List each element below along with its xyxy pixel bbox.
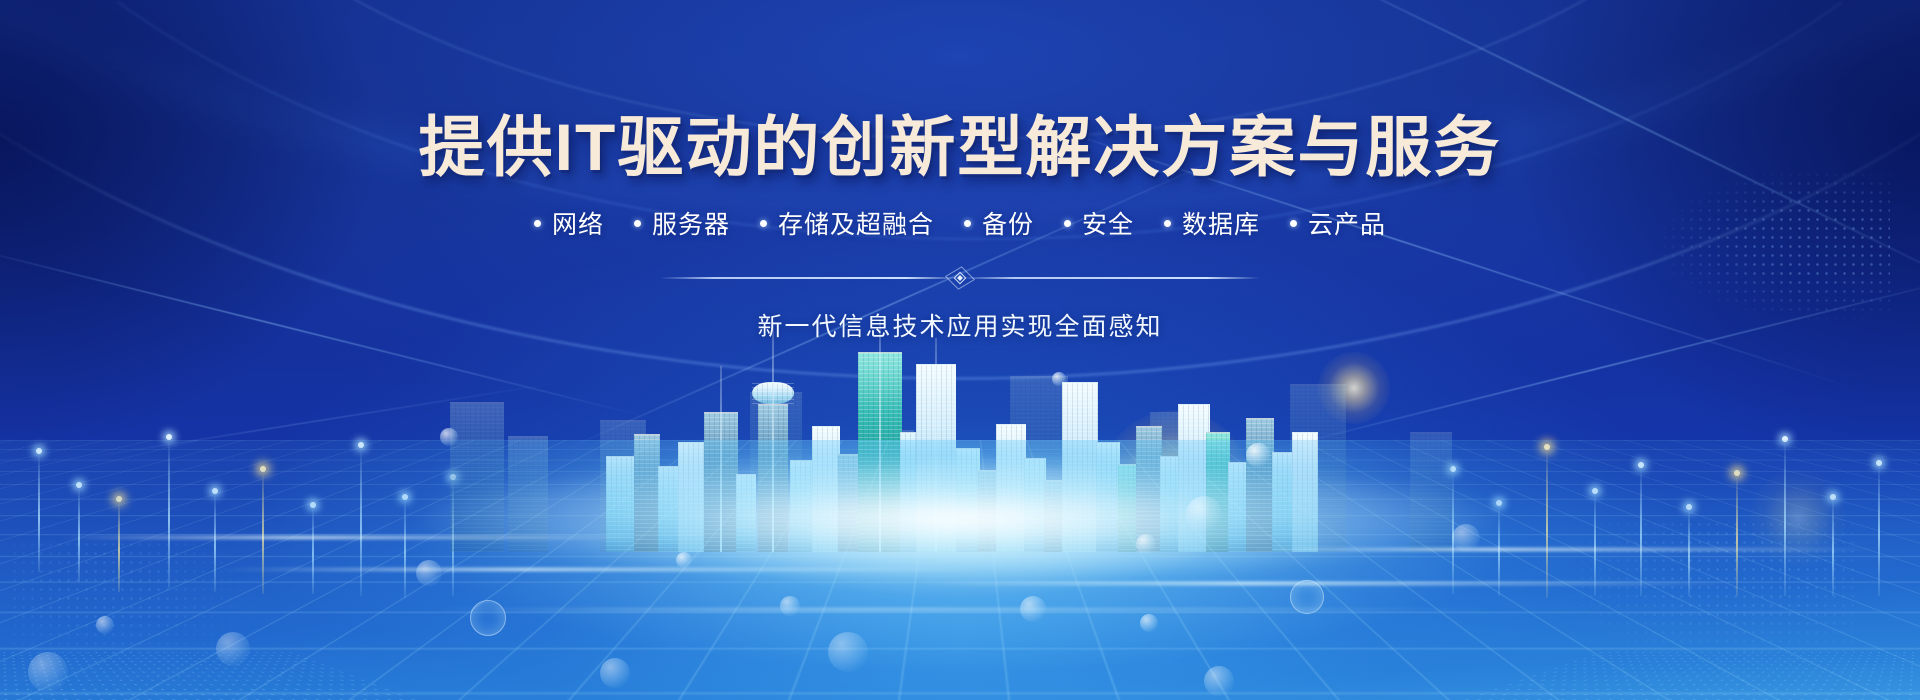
bullet-dot-icon xyxy=(1290,220,1297,227)
bullet-dot-icon xyxy=(964,220,971,227)
banner-content: 提供IT驱动的创新型解决方案与服务 网络 服务器 存储及超融合 备份 安全 xyxy=(0,0,1920,343)
diamond-ornament-icon xyxy=(943,267,977,289)
service-label: 备份 xyxy=(982,205,1034,241)
bullet-dot-icon xyxy=(1064,220,1071,227)
bullet-dot-icon xyxy=(534,220,541,227)
list-item[interactable]: 网络 xyxy=(534,205,604,241)
ground-light-plane xyxy=(0,440,1920,700)
service-label: 服务器 xyxy=(652,205,730,241)
divider-line-left xyxy=(660,277,960,279)
tagline: 新一代信息技术应用实现全面感知 xyxy=(0,307,1920,343)
service-label: 数据库 xyxy=(1182,205,1260,241)
service-label: 网络 xyxy=(552,205,604,241)
divider-line-right xyxy=(960,277,1260,279)
list-item[interactable]: 服务器 xyxy=(634,205,730,241)
hero-banner: 提供IT驱动的创新型解决方案与服务 网络 服务器 存储及超融合 备份 安全 xyxy=(0,0,1920,700)
page-title: 提供IT驱动的创新型解决方案与服务 xyxy=(0,0,1920,183)
list-item[interactable]: 备份 xyxy=(964,205,1034,241)
ground-haze xyxy=(0,458,1920,578)
bullet-dot-icon xyxy=(1164,220,1171,227)
divider xyxy=(660,267,1260,289)
list-item[interactable]: 存储及超融合 xyxy=(760,205,934,241)
service-label: 云产品 xyxy=(1308,205,1386,241)
bullet-dot-icon xyxy=(634,220,641,227)
list-item[interactable]: 数据库 xyxy=(1164,205,1260,241)
service-label: 存储及超融合 xyxy=(778,205,934,241)
list-item[interactable]: 云产品 xyxy=(1290,205,1386,241)
service-list: 网络 服务器 存储及超融合 备份 安全 数据库 xyxy=(0,205,1920,241)
service-label: 安全 xyxy=(1082,205,1134,241)
bullet-dot-icon xyxy=(760,220,767,227)
list-item[interactable]: 安全 xyxy=(1064,205,1134,241)
